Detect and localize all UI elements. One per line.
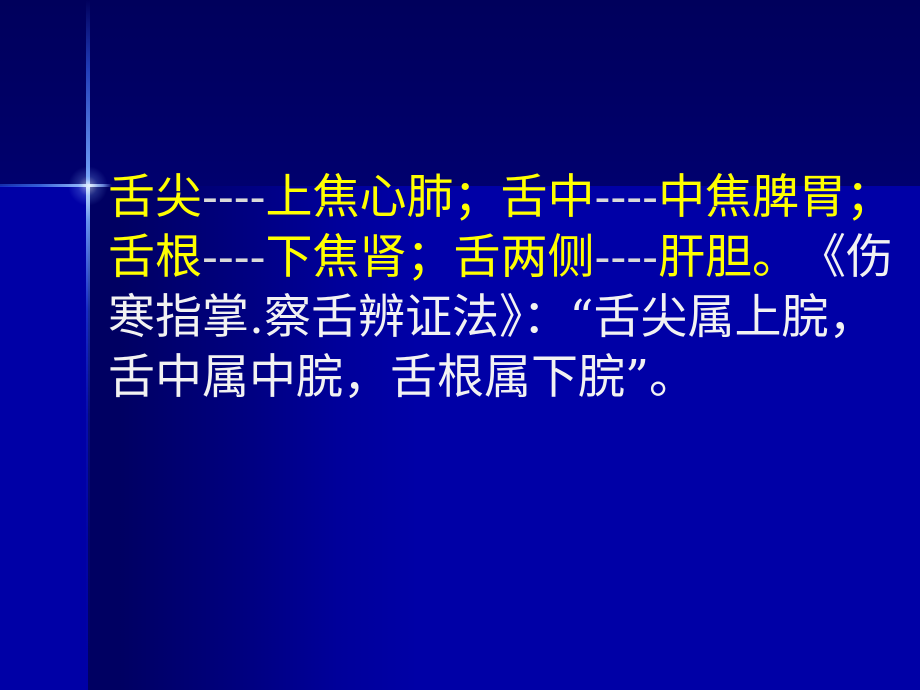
body-segment-6: 舌根 bbox=[108, 230, 202, 285]
background-top-wash bbox=[0, 0, 920, 186]
body-segment-5: 中焦脾胃； bbox=[658, 170, 893, 225]
body-segment-11: 肝胆。 bbox=[658, 230, 776, 285]
body-segment-4: ---- bbox=[595, 170, 659, 225]
body-segment-7: ---- bbox=[202, 230, 266, 285]
body-segment-9: 舌两侧 bbox=[454, 230, 595, 285]
body-segment-3: 舌中 bbox=[501, 170, 595, 225]
slide-body-text: 舌尖----上焦心肺；舌中----中焦脾胃；舌根----下焦肾；舌两侧----肝… bbox=[108, 168, 898, 408]
cross-intersection-glow-icon bbox=[68, 166, 108, 206]
body-segment-0: 舌尖 bbox=[108, 170, 202, 225]
vertical-rule-decoration bbox=[86, 0, 90, 690]
slide-canvas: 舌尖----上焦心肺；舌中----中焦脾胃；舌根----下焦肾；舌两侧----肝… bbox=[0, 0, 920, 690]
body-segment-2: 上焦心肺； bbox=[266, 170, 501, 225]
body-segment-1: ---- bbox=[202, 170, 266, 225]
body-segment-8: 下焦肾； bbox=[266, 230, 454, 285]
body-segment-10: ---- bbox=[595, 230, 659, 285]
